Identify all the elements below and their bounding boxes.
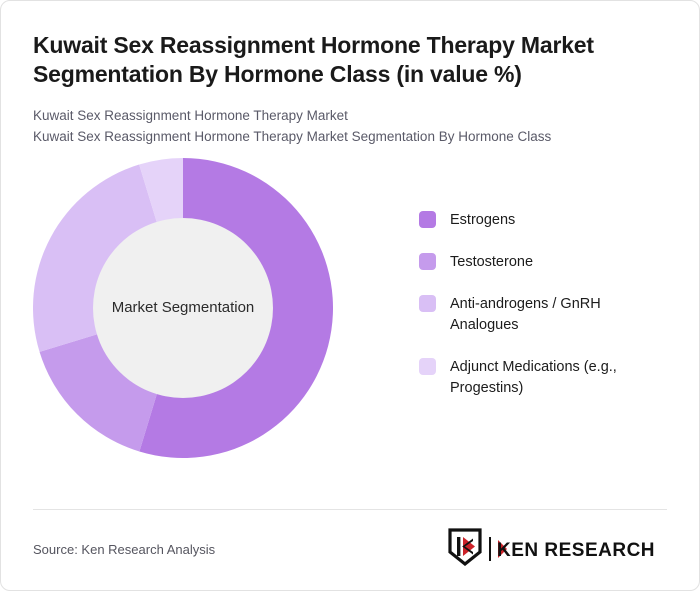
legend-item-label: Estrogens xyxy=(450,210,515,231)
chart-footer: Source: Ken Research Analysis KEN RESEAR… xyxy=(33,526,671,572)
chart-legend: EstrogensTestosteroneAnti-androgens / Gn… xyxy=(419,210,669,420)
legend-item-label: Testosterone xyxy=(450,252,533,273)
legend-swatch-icon xyxy=(419,211,436,228)
legend-item-label: Anti-androgens / GnRH Analogues xyxy=(450,294,650,336)
donut-chart-svg xyxy=(33,158,333,458)
legend-item[interactable]: Anti-androgens / GnRH Analogues xyxy=(419,294,669,336)
ken-research-logo: KEN RESEARCH xyxy=(448,528,671,571)
ken-research-wordmark-svg: KEN RESEARCH xyxy=(489,536,671,562)
ken-research-wordmark: KEN RESEARCH xyxy=(489,536,671,562)
ken-shield-icon-svg xyxy=(448,528,482,566)
legend-item[interactable]: Estrogens xyxy=(419,210,669,231)
footer-divider xyxy=(33,509,667,510)
chart-body: Market Segmentation EstrogensTestosteron… xyxy=(1,148,699,478)
chart-subtitle-1: Kuwait Sex Reassignment Hormone Therapy … xyxy=(33,106,667,127)
legend-swatch-icon xyxy=(419,295,436,312)
chart-subtitles: Kuwait Sex Reassignment Hormone Therapy … xyxy=(33,106,667,148)
ken-shield-icon xyxy=(448,528,482,571)
source-text: Source: Ken Research Analysis xyxy=(33,542,215,557)
page-title: Kuwait Sex Reassignment Hormone Therapy … xyxy=(33,31,653,90)
donut-chart: Market Segmentation xyxy=(33,158,333,458)
chart-card: Kuwait Sex Reassignment Hormone Therapy … xyxy=(0,0,700,591)
legend-item[interactable]: Testosterone xyxy=(419,252,669,273)
donut-hole xyxy=(93,218,273,398)
chart-header: Kuwait Sex Reassignment Hormone Therapy … xyxy=(1,1,699,148)
chart-subtitle-2: Kuwait Sex Reassignment Hormone Therapy … xyxy=(33,127,667,148)
legend-item-label: Adjunct Medications (e.g., Progestins) xyxy=(450,357,650,399)
svg-text:KEN RESEARCH: KEN RESEARCH xyxy=(497,540,655,561)
legend-swatch-icon xyxy=(419,253,436,270)
legend-item[interactable]: Adjunct Medications (e.g., Progestins) xyxy=(419,357,669,399)
legend-swatch-icon xyxy=(419,358,436,375)
